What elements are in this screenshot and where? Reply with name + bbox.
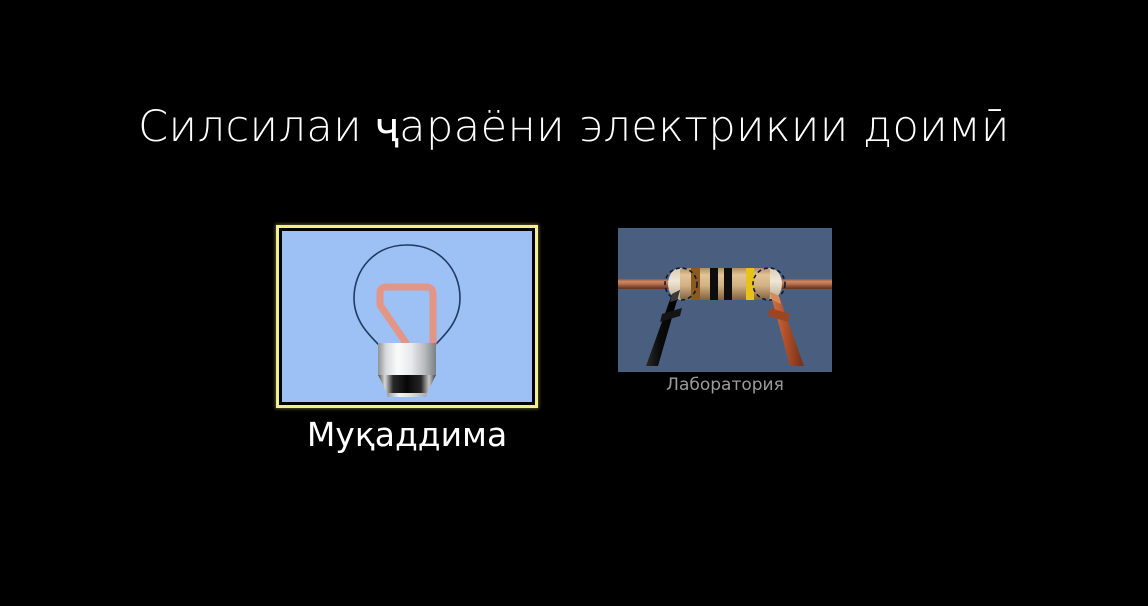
card-lab-label: Лаборатория	[608, 373, 842, 397]
resistor-band-3	[724, 268, 732, 300]
card-intro-thumbnail	[282, 231, 532, 402]
card-intro-label: Муқаддима	[276, 414, 538, 456]
resistor-band-2	[710, 268, 718, 300]
resistor-photo-thumbnail	[618, 228, 832, 372]
page-title: Силсилаи ҷараёни электрикии доимӣ	[0, 99, 1148, 155]
card-lab[interactable]	[618, 228, 832, 372]
light-bulb-icon	[332, 237, 482, 397]
bulb-filament	[380, 287, 433, 345]
bulb-base-dark-band	[378, 375, 436, 393]
slide-canvas: Силсилаи ҷараёни электрикии доимӣ	[0, 0, 1148, 606]
bulb-glass-outline	[354, 245, 460, 347]
bulb-base-tip	[387, 393, 427, 397]
bulb-base-metal	[378, 343, 436, 375]
card-intro[interactable]	[276, 225, 538, 408]
